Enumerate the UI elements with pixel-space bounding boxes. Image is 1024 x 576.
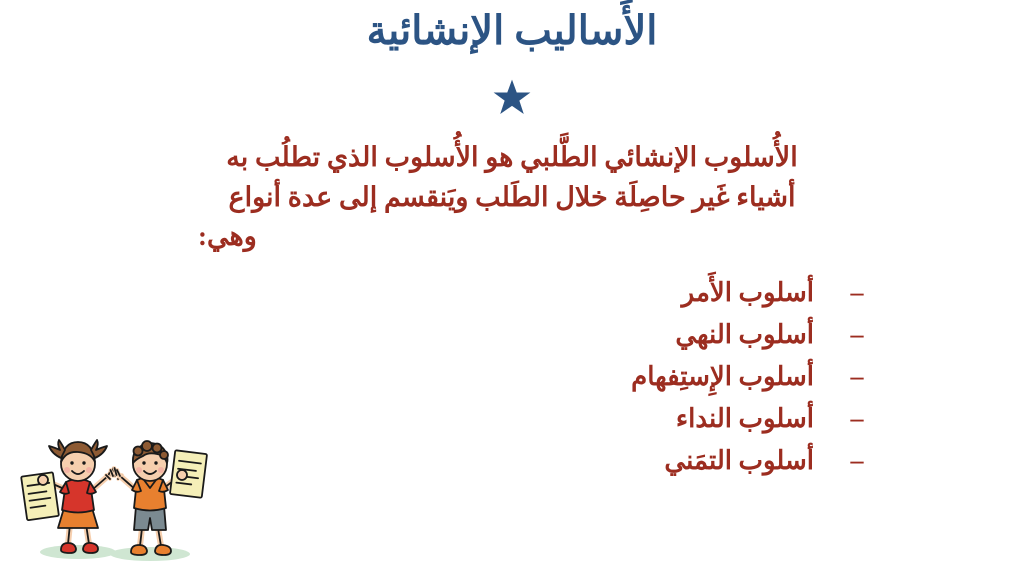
page-title: الأَساليب الإنشائية (0, 6, 1024, 56)
body-line-1: الأُسلوب الإنشائي الطَّلبي هو الأُسلوب ا… (196, 138, 828, 178)
dash-bullet-icon: – (850, 356, 864, 398)
two-children-holding-papers-illustration (16, 418, 216, 568)
list-item-label: أسلوب النداء (676, 398, 814, 440)
star-bullet-icon (492, 78, 532, 118)
list-item[interactable]: – أسلوب النداء (164, 398, 864, 440)
list-item-label: أسلوب الإِستِفهام (631, 356, 814, 398)
list-item[interactable]: – أسلوب الأَمر (164, 272, 864, 314)
dash-bullet-icon: – (850, 314, 864, 356)
list-item-label: أسلوب التمَني (664, 440, 814, 482)
dash-bullet-icon: – (850, 440, 864, 482)
body-line-2: أشياء غَير حاصِلَة خلال الطَلب ويَنقسم إ… (196, 178, 828, 218)
star-bullet-row (0, 78, 1024, 118)
list-item[interactable]: – أسلوب الإِستِفهام (164, 356, 864, 398)
body-paragraph: الأُسلوب الإنشائي الطَّلبي هو الأُسلوب ا… (196, 138, 828, 257)
list-item-label: أسلوب النهي (675, 314, 814, 356)
dash-bullet-icon: – (850, 272, 864, 314)
list-item[interactable]: – أسلوب التمَني (164, 440, 864, 482)
styles-list: – أسلوب الأَمر – أسلوب النهي – أسلوب الإ… (164, 272, 864, 482)
body-line-3: وهي: (196, 217, 828, 257)
slide-canvas: الأَساليب الإنشائية الأُسلوب الإنشائي ال… (0, 0, 1024, 576)
list-item[interactable]: – أسلوب النهي (164, 314, 864, 356)
dash-bullet-icon: – (850, 398, 864, 440)
list-item-label: أسلوب الأَمر (682, 272, 814, 314)
